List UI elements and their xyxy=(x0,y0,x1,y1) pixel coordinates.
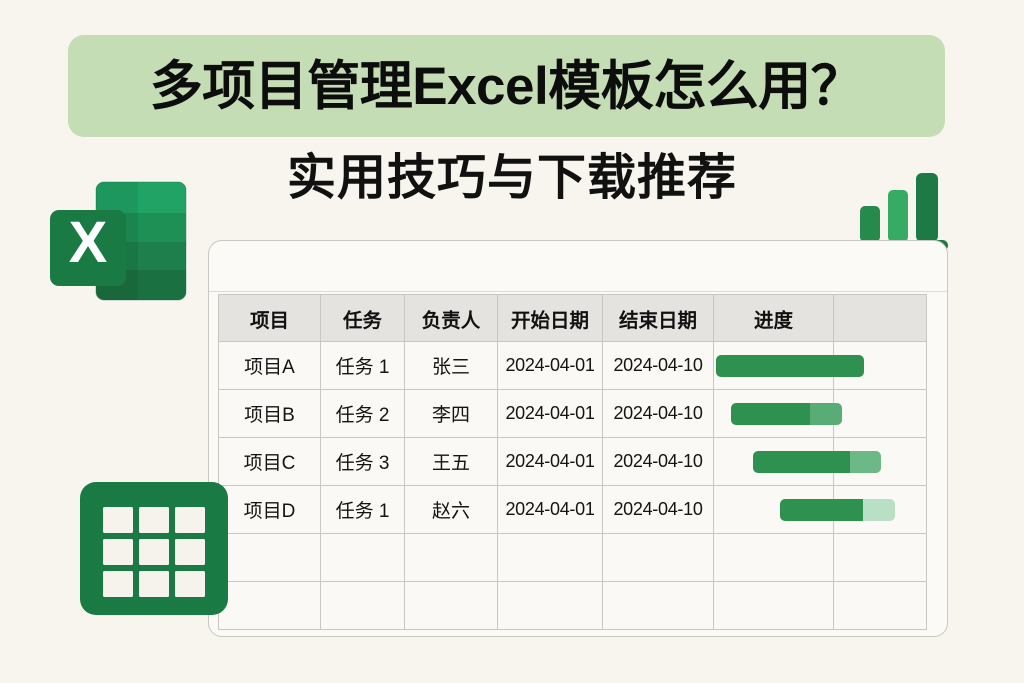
cell-empty[interactable] xyxy=(498,582,603,630)
cell-end-date[interactable]: 2024-04-10 xyxy=(603,390,714,438)
cell-empty[interactable] xyxy=(219,582,321,630)
cell-task[interactable]: 任务 2 xyxy=(321,390,405,438)
cell-project[interactable]: 项目B xyxy=(219,390,321,438)
gantt-bar-completed xyxy=(753,451,850,473)
cell-start-date[interactable]: 2024-04-01 xyxy=(498,390,603,438)
column-header-task[interactable]: 任务 xyxy=(321,295,405,342)
cell-empty[interactable] xyxy=(498,534,603,582)
table-row[interactable]: 项目D任务 1赵六2024-04-012024-04-10 xyxy=(219,486,927,534)
gantt-bar xyxy=(753,451,881,473)
cell-extra[interactable] xyxy=(834,390,927,438)
cell-progress[interactable] xyxy=(714,438,834,486)
column-header-owner[interactable]: 负责人 xyxy=(405,295,498,342)
cell-empty[interactable] xyxy=(714,534,834,582)
cell-start-date[interactable]: 2024-04-01 xyxy=(498,342,603,390)
cell-empty[interactable] xyxy=(834,534,927,582)
gantt-bar-remaining xyxy=(810,403,842,425)
table-header-row: 项目 任务 负责人 开始日期 结束日期 进度 xyxy=(219,295,927,342)
table-row[interactable]: 项目A任务 1张三2024-04-012024-04-10 xyxy=(219,342,927,390)
gantt-bar-completed xyxy=(780,499,863,521)
cell-owner[interactable]: 张三 xyxy=(405,342,498,390)
cell-start-date[interactable]: 2024-04-01 xyxy=(498,486,603,534)
excel-logo-letter: X xyxy=(69,210,108,275)
cell-empty[interactable] xyxy=(405,582,498,630)
cell-task[interactable]: 任务 3 xyxy=(321,438,405,486)
table-row-empty[interactable] xyxy=(219,534,927,582)
cell-empty[interactable] xyxy=(321,534,405,582)
cell-task[interactable]: 任务 1 xyxy=(321,342,405,390)
project-schedule-table: 项目 任务 负责人 开始日期 结束日期 进度 项目A任务 1张三2024-04-… xyxy=(218,294,927,630)
cell-owner[interactable]: 王五 xyxy=(405,438,498,486)
cell-empty[interactable] xyxy=(834,582,927,630)
cell-project[interactable]: 项目D xyxy=(219,486,321,534)
cell-empty[interactable] xyxy=(405,534,498,582)
page-title: 多项目管理Excel模板怎么用？ xyxy=(150,60,864,113)
column-header-start[interactable]: 开始日期 xyxy=(498,295,603,342)
cell-end-date[interactable]: 2024-04-10 xyxy=(603,486,714,534)
cell-progress[interactable] xyxy=(714,342,834,390)
cell-empty[interactable] xyxy=(603,582,714,630)
cell-task[interactable]: 任务 1 xyxy=(321,486,405,534)
gantt-bar-completed xyxy=(716,355,864,377)
cell-project[interactable]: 项目C xyxy=(219,438,321,486)
cell-owner[interactable]: 李四 xyxy=(405,390,498,438)
cell-empty[interactable] xyxy=(219,534,321,582)
gantt-bar-remaining xyxy=(850,451,881,473)
infographic-canvas: 多项目管理Excel模板怎么用？ 实用技巧与下载推荐 X xyxy=(0,0,1024,683)
column-header-progress[interactable]: 进度 xyxy=(714,295,834,342)
cell-start-date[interactable]: 2024-04-01 xyxy=(498,438,603,486)
table-row-empty[interactable] xyxy=(219,582,927,630)
title-banner: 多项目管理Excel模板怎么用？ xyxy=(68,35,945,137)
gantt-bar xyxy=(780,499,895,521)
cell-empty[interactable] xyxy=(321,582,405,630)
table-header: 项目 任务 负责人 开始日期 结束日期 进度 xyxy=(219,295,927,342)
grid-icon xyxy=(80,482,228,615)
table-row[interactable]: 项目B任务 2李四2024-04-012024-04-10 xyxy=(219,390,927,438)
cell-progress[interactable] xyxy=(714,486,834,534)
column-header-end[interactable]: 结束日期 xyxy=(603,295,714,342)
cell-project[interactable]: 项目A xyxy=(219,342,321,390)
gantt-bar xyxy=(716,355,864,377)
cell-owner[interactable]: 赵六 xyxy=(405,486,498,534)
cell-empty[interactable] xyxy=(714,582,834,630)
cell-end-date[interactable]: 2024-04-10 xyxy=(603,438,714,486)
excel-logo-icon: X xyxy=(48,180,188,302)
gantt-bar xyxy=(731,403,842,425)
cell-empty[interactable] xyxy=(603,534,714,582)
column-header-extra[interactable] xyxy=(834,295,927,342)
gantt-bar-completed xyxy=(731,403,810,425)
gantt-bar-remaining xyxy=(863,499,895,521)
column-header-project[interactable]: 项目 xyxy=(219,295,321,342)
table-body: 项目A任务 1张三2024-04-012024-04-10项目B任务 2李四20… xyxy=(219,342,927,630)
spreadsheet-toolbar xyxy=(209,241,947,292)
table-row[interactable]: 项目C任务 3王五2024-04-012024-04-10 xyxy=(219,438,927,486)
cell-end-date[interactable]: 2024-04-10 xyxy=(603,342,714,390)
cell-progress[interactable] xyxy=(714,390,834,438)
